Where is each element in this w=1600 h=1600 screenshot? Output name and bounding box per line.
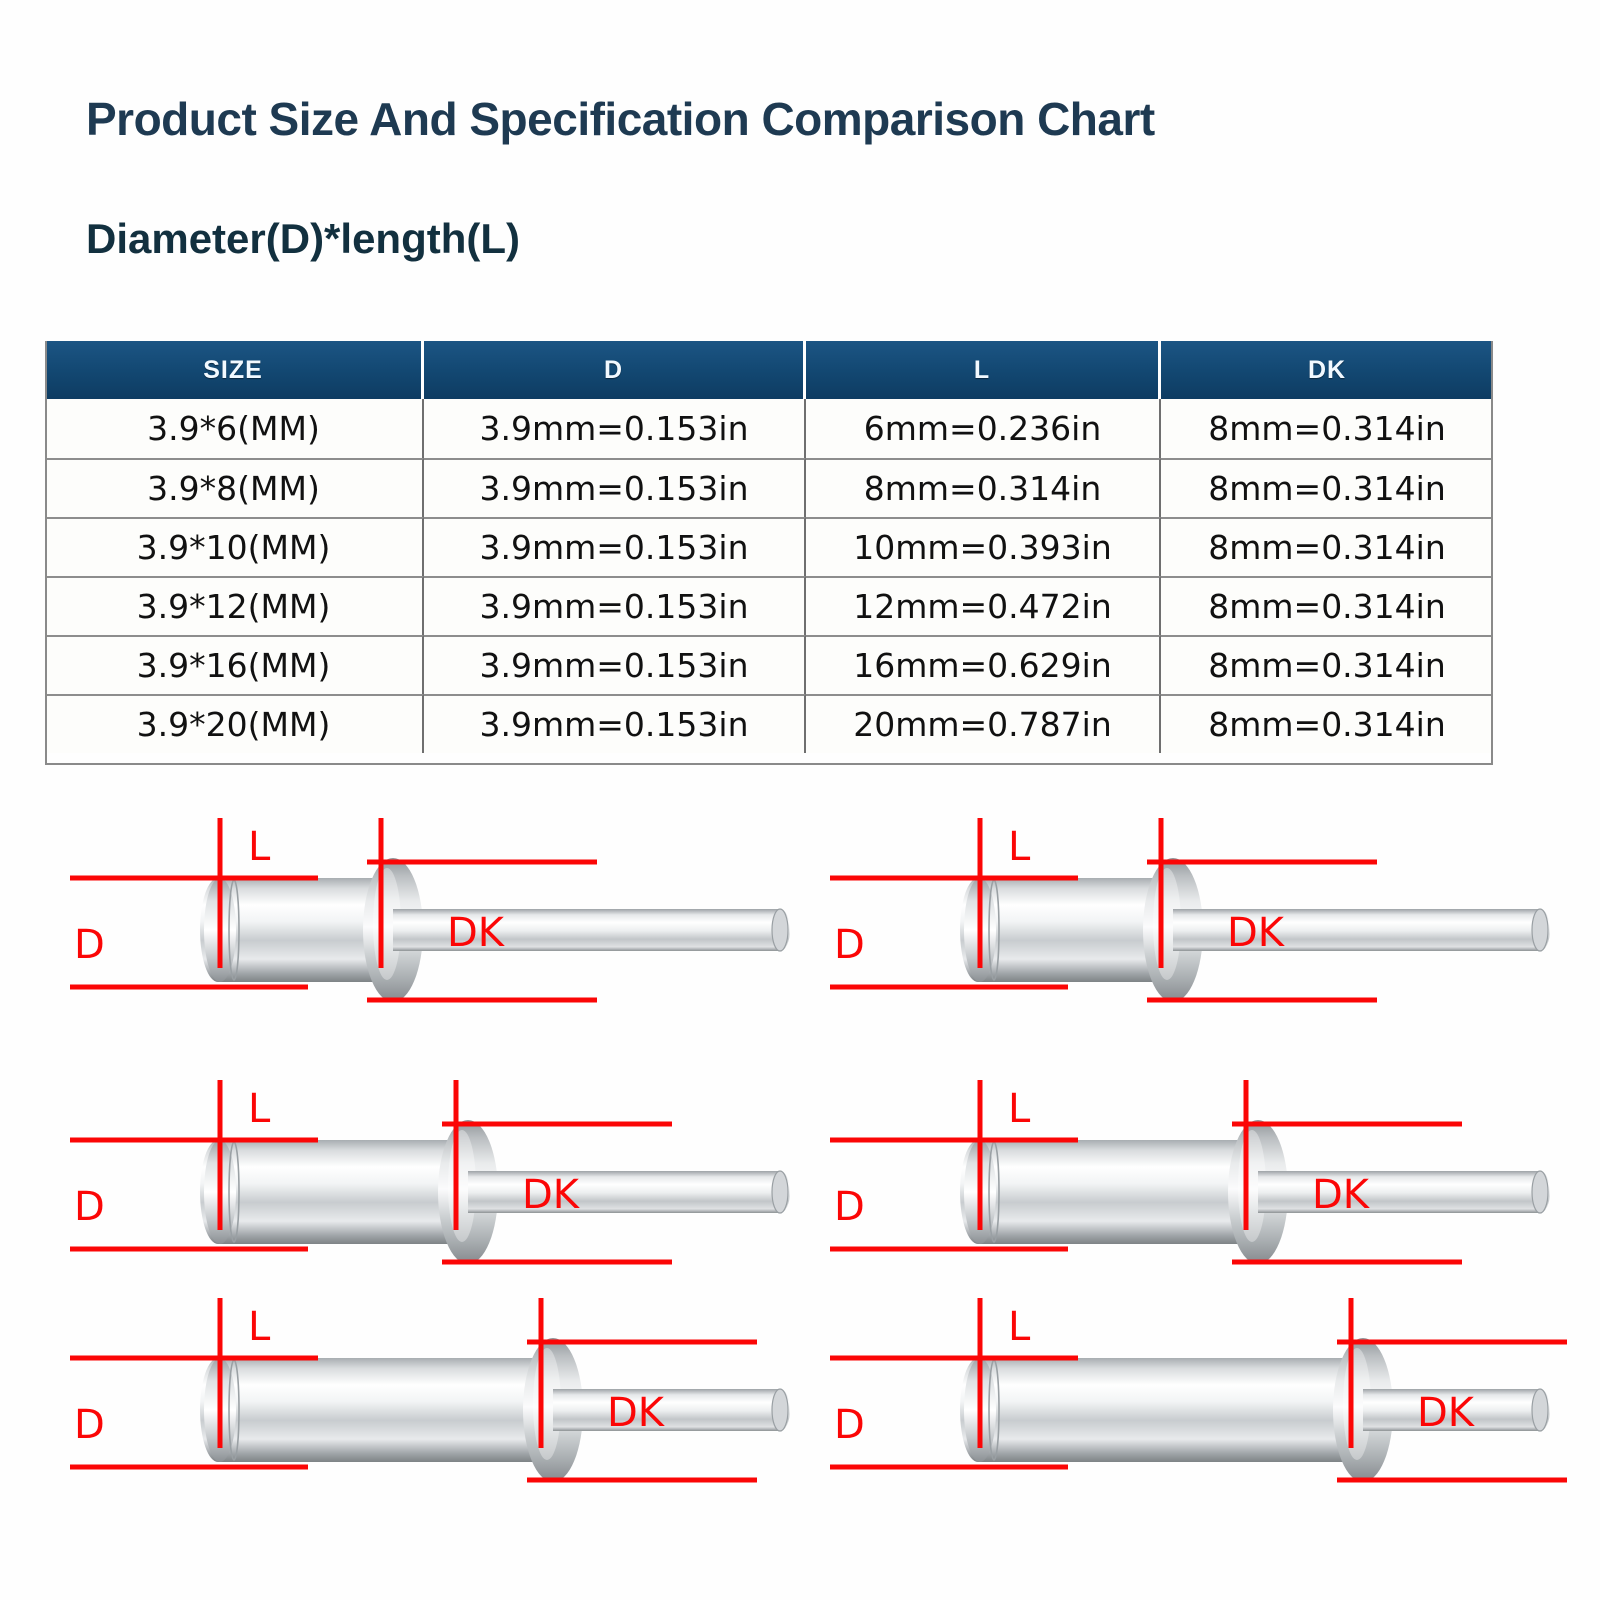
rivet-mandrel-pin (468, 1171, 790, 1213)
dimension-label-d: D (74, 1184, 105, 1230)
table-row: 3.9*8(MM) 3.9mm=0.153in 8mm=0.314in 8mm=… (45, 458, 1493, 517)
rivet-mandrel-pin (1258, 1171, 1550, 1213)
table-row: 3.9*6(MM) 3.9mm=0.153in 6mm=0.236in 8mm=… (45, 399, 1493, 458)
rivet-mandrel-end (772, 909, 788, 951)
cell-dk: 8mm=0.314in (1161, 635, 1493, 694)
dimension-label-d: D (74, 1402, 105, 1448)
rivet-mandrel-end (1532, 1171, 1548, 1213)
rivet-diagram-0: DLDK (60, 810, 830, 1040)
cell-size: 3.9*8(MM) (45, 458, 424, 517)
page-title: Product Size And Specification Compariso… (86, 92, 1155, 146)
rivet-mandrel-end (1532, 909, 1548, 951)
cell-size: 3.9*20(MM) (45, 694, 424, 753)
dimension-label-dk: DK (1312, 1172, 1371, 1218)
rivet-diagram-grid: DLDK DLDK DLDK DLDK DLDK DLDK (0, 800, 1600, 1600)
cell-size: 3.9*6(MM) (45, 399, 424, 458)
rivet-illustration: DLDK (820, 810, 1590, 1040)
dimension-label-l: L (1008, 1086, 1031, 1132)
cell-l: 20mm=0.787in (806, 694, 1161, 753)
column-header-size: SIZE (45, 341, 424, 399)
dimension-label-d: D (74, 922, 105, 968)
rivet-shank (200, 1358, 545, 1462)
column-header-l: L (806, 341, 1161, 399)
dimension-label-d: D (834, 1402, 865, 1448)
rivet-shank (960, 1358, 1355, 1462)
dimension-label-l: L (1008, 1304, 1031, 1350)
table-row: 3.9*16(MM) 3.9mm=0.153in 16mm=0.629in 8m… (45, 635, 1493, 694)
cell-d: 3.9mm=0.153in (424, 694, 806, 753)
cell-size: 3.9*12(MM) (45, 576, 424, 635)
dimension-label-d: D (834, 1184, 865, 1230)
dimension-label-l: L (248, 1304, 271, 1350)
cell-dk: 8mm=0.314in (1161, 399, 1493, 458)
cell-dk: 8mm=0.314in (1161, 694, 1493, 753)
cell-l: 12mm=0.472in (806, 576, 1161, 635)
dimension-label-dk: DK (607, 1390, 666, 1436)
table-header-row: SIZE D L DK (45, 341, 1493, 399)
cell-l: 8mm=0.314in (806, 458, 1161, 517)
table-row: 3.9*12(MM) 3.9mm=0.153in 12mm=0.472in 8m… (45, 576, 1493, 635)
cell-l: 6mm=0.236in (806, 399, 1161, 458)
rivet-mandrel-pin (553, 1389, 790, 1431)
dimension-label-d: D (834, 922, 865, 968)
cell-dk: 8mm=0.314in (1161, 576, 1493, 635)
cell-size: 3.9*16(MM) (45, 635, 424, 694)
dimension-label-dk: DK (1227, 910, 1286, 956)
rivet-mandrel-end (772, 1171, 788, 1213)
cell-dk: 8mm=0.314in (1161, 517, 1493, 576)
spec-sheet-page: Product Size And Specification Compariso… (0, 0, 1600, 1600)
rivet-illustration: DLDK (820, 1290, 1590, 1520)
rivet-illustration: DLDK (60, 1290, 830, 1520)
cell-d: 3.9mm=0.153in (424, 635, 806, 694)
cell-size: 3.9*10(MM) (45, 517, 424, 576)
rivet-diagram-4: DLDK (60, 1290, 830, 1520)
dimension-label-l: L (248, 1086, 271, 1132)
page-subtitle: Diameter(D)*length(L) (86, 215, 520, 263)
cell-d: 3.9mm=0.153in (424, 399, 806, 458)
rivet-diagram-5: DLDK (820, 1290, 1590, 1520)
rivet-mandrel-end (1532, 1389, 1548, 1431)
rivet-illustration: DLDK (820, 1072, 1590, 1302)
dimension-label-dk: DK (447, 910, 506, 956)
cell-d: 3.9mm=0.153in (424, 458, 806, 517)
cell-d: 3.9mm=0.153in (424, 576, 806, 635)
dimension-label-dk: DK (522, 1172, 581, 1218)
cell-d: 3.9mm=0.153in (424, 517, 806, 576)
column-header-d: D (424, 341, 806, 399)
table-body: 3.9*6(MM) 3.9mm=0.153in 6mm=0.236in 8mm=… (45, 399, 1493, 753)
rivet-shank (960, 1140, 1250, 1244)
column-header-dk: DK (1161, 341, 1493, 399)
dimension-label-dk: DK (1417, 1390, 1476, 1436)
cell-dk: 8mm=0.314in (1161, 458, 1493, 517)
cell-l: 16mm=0.629in (806, 635, 1161, 694)
cell-l: 10mm=0.393in (806, 517, 1161, 576)
dimension-label-l: L (1008, 824, 1031, 870)
specification-table: SIZE D L DK 3.9*6(MM) 3.9mm=0.153in 6mm=… (45, 341, 1493, 753)
table-row: 3.9*10(MM) 3.9mm=0.153in 10mm=0.393in 8m… (45, 517, 1493, 576)
rivet-diagram-1: DLDK (820, 810, 1590, 1040)
dimension-label-l: L (248, 824, 271, 870)
rivet-illustration: DLDK (60, 810, 830, 1040)
rivet-mandrel-end (772, 1389, 788, 1431)
table-row: 3.9*20(MM) 3.9mm=0.153in 20mm=0.787in 8m… (45, 694, 1493, 753)
rivet-illustration: DLDK (60, 1072, 830, 1302)
rivet-diagram-3: DLDK (820, 1072, 1590, 1302)
rivet-diagram-2: DLDK (60, 1072, 830, 1302)
